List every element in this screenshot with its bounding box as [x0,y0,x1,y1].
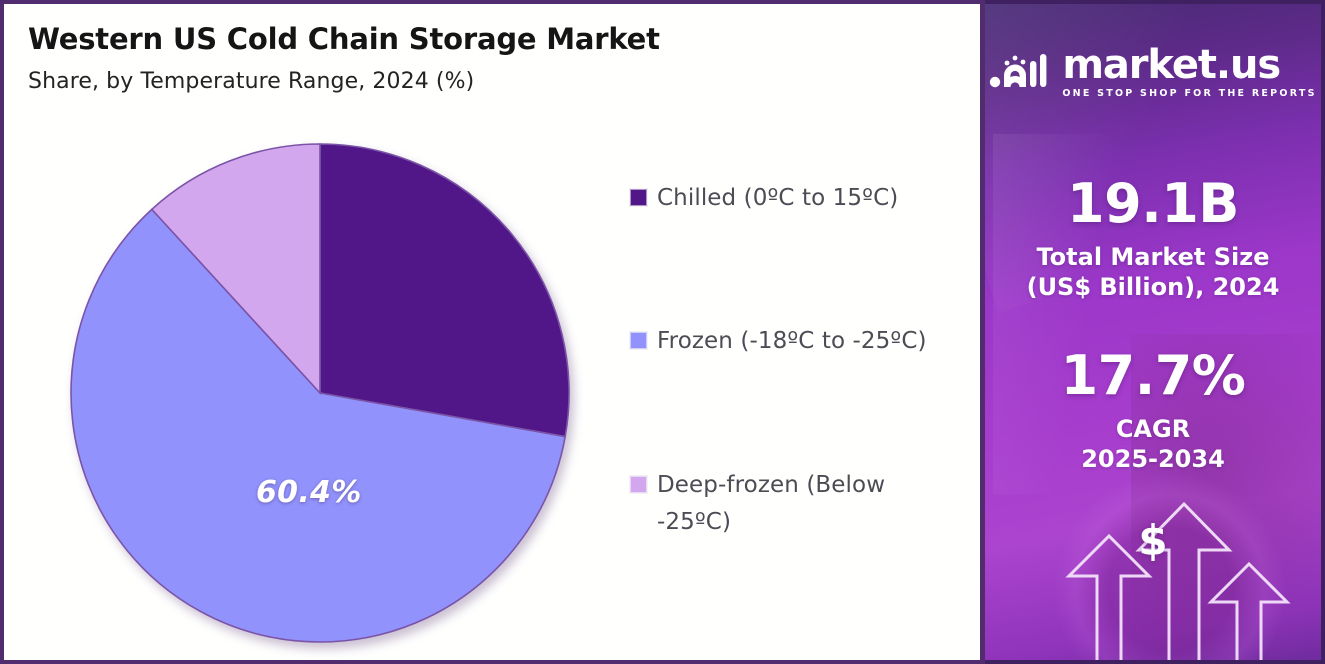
pie-slice-value-label: 60.4% [256,475,362,510]
stat-cagr: 17.7% CAGR 2025-2034 [985,348,1321,474]
dollar-sign-icon: $ [985,516,1321,565]
growth-arrows-icon [985,480,1321,660]
legend-swatch-icon [630,189,647,206]
stat-caption-line2: (US$ Billion), 2024 [1027,273,1280,301]
legend-item-label: Deep-frozen (Below -25ºC) [657,467,950,542]
stats-panel: market.us ONE STOP SHOP FOR THE REPORTS … [985,0,1325,664]
legend-item-chilled[interactable]: Chilled (0ºC to 15ºC) [630,180,950,217]
stat-value: 19.1B [985,176,1321,233]
stat-caption: Total Market Size (US$ Billion), 2024 [985,242,1321,302]
pie-chart: 60.4% [70,143,578,651]
market-us-logo-icon [989,50,1051,94]
brand-tagline: ONE STOP SHOP FOR THE REPORTS [1062,89,1316,99]
stat-value: 17.7% [985,348,1321,405]
pie-slice[interactable] [320,144,569,437]
infographic-root: Western US Cold Chain Storage Market Sha… [0,0,1325,664]
stat-caption-line1: Total Market Size [1036,243,1269,271]
chart-panel: Western US Cold Chain Storage Market Sha… [0,0,985,664]
pie-slices [70,143,570,643]
legend-item-deep-frozen[interactable]: Deep-frozen (Below -25ºC) [630,467,950,542]
page-subtitle: Share, by Temperature Range, 2024 (%) [28,69,660,94]
page-title: Western US Cold Chain Storage Market [28,22,660,56]
legend-swatch-icon [630,476,647,493]
brand-name: market.us [1062,42,1280,88]
brand-logo[interactable]: market.us ONE STOP SHOP FOR THE REPORTS [985,45,1321,99]
pie-svg [70,143,570,643]
legend-item-label: Chilled (0ºC to 15ºC) [657,180,898,217]
legend-swatch-icon [630,332,647,349]
stat-caption-line2: 2025-2034 [1081,445,1225,473]
chart-header: Western US Cold Chain Storage Market Sha… [28,22,660,94]
stat-market-size: 19.1B Total Market Size (US$ Billion), 2… [985,176,1321,302]
stat-caption-line1: CAGR [1116,415,1190,443]
brand-logo-text: market.us ONE STOP SHOP FOR THE REPORTS [1062,45,1316,99]
stat-caption: CAGR 2025-2034 [985,414,1321,474]
chart-legend: Chilled (0ºC to 15ºC) Frozen (-18ºC to -… [630,180,950,541]
legend-item-frozen[interactable]: Frozen (-18ºC to -25ºC) [630,323,950,360]
legend-item-label: Frozen (-18ºC to -25ºC) [657,323,927,360]
